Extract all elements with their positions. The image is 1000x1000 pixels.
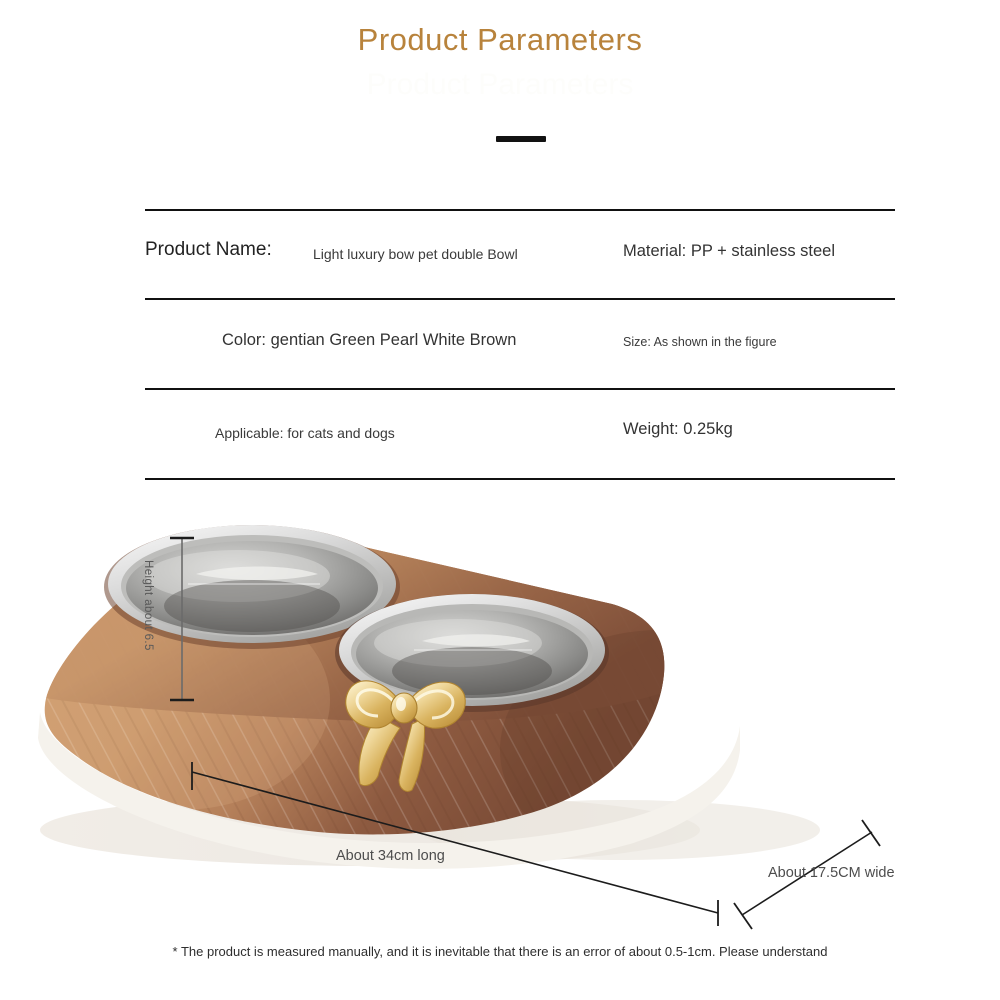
dimension-label-width: About 17.5CM wide: [768, 865, 895, 881]
page-title-ghost: Product Parameters: [0, 68, 1000, 102]
spec-label-color: Color: gentian Green Pearl White Brown: [222, 331, 516, 350]
spec-table: Product Name: Light luxury bow pet doubl…: [145, 209, 895, 480]
table-row: Product Name: Light luxury bow pet doubl…: [145, 211, 895, 298]
dimension-label-length: About 34cm long: [336, 848, 445, 864]
table-rule-bottom: [145, 478, 895, 480]
title-divider-dash: [496, 136, 546, 142]
spec-label-product-name: Product Name:: [145, 239, 272, 261]
spec-label-size: Size: As shown in the figure: [623, 335, 777, 349]
table-row: Applicable: for cats and dogs Weight: 0.…: [145, 390, 895, 478]
spec-value-product-name: Light luxury bow pet double Bowl: [313, 246, 518, 262]
table-row: Color: gentian Green Pearl White Brown S…: [145, 300, 895, 388]
dimension-label-height: Height about 6.5: [142, 560, 154, 680]
spec-label-applicable: Applicable: for cats and dogs: [215, 425, 395, 441]
page-title: Product Parameters: [0, 22, 1000, 58]
spec-label-material: Material: PP + stainless steel: [623, 242, 835, 261]
measurement-footnote: * The product is measured manually, and …: [0, 944, 1000, 959]
spec-label-weight: Weight: 0.25kg: [623, 420, 733, 439]
